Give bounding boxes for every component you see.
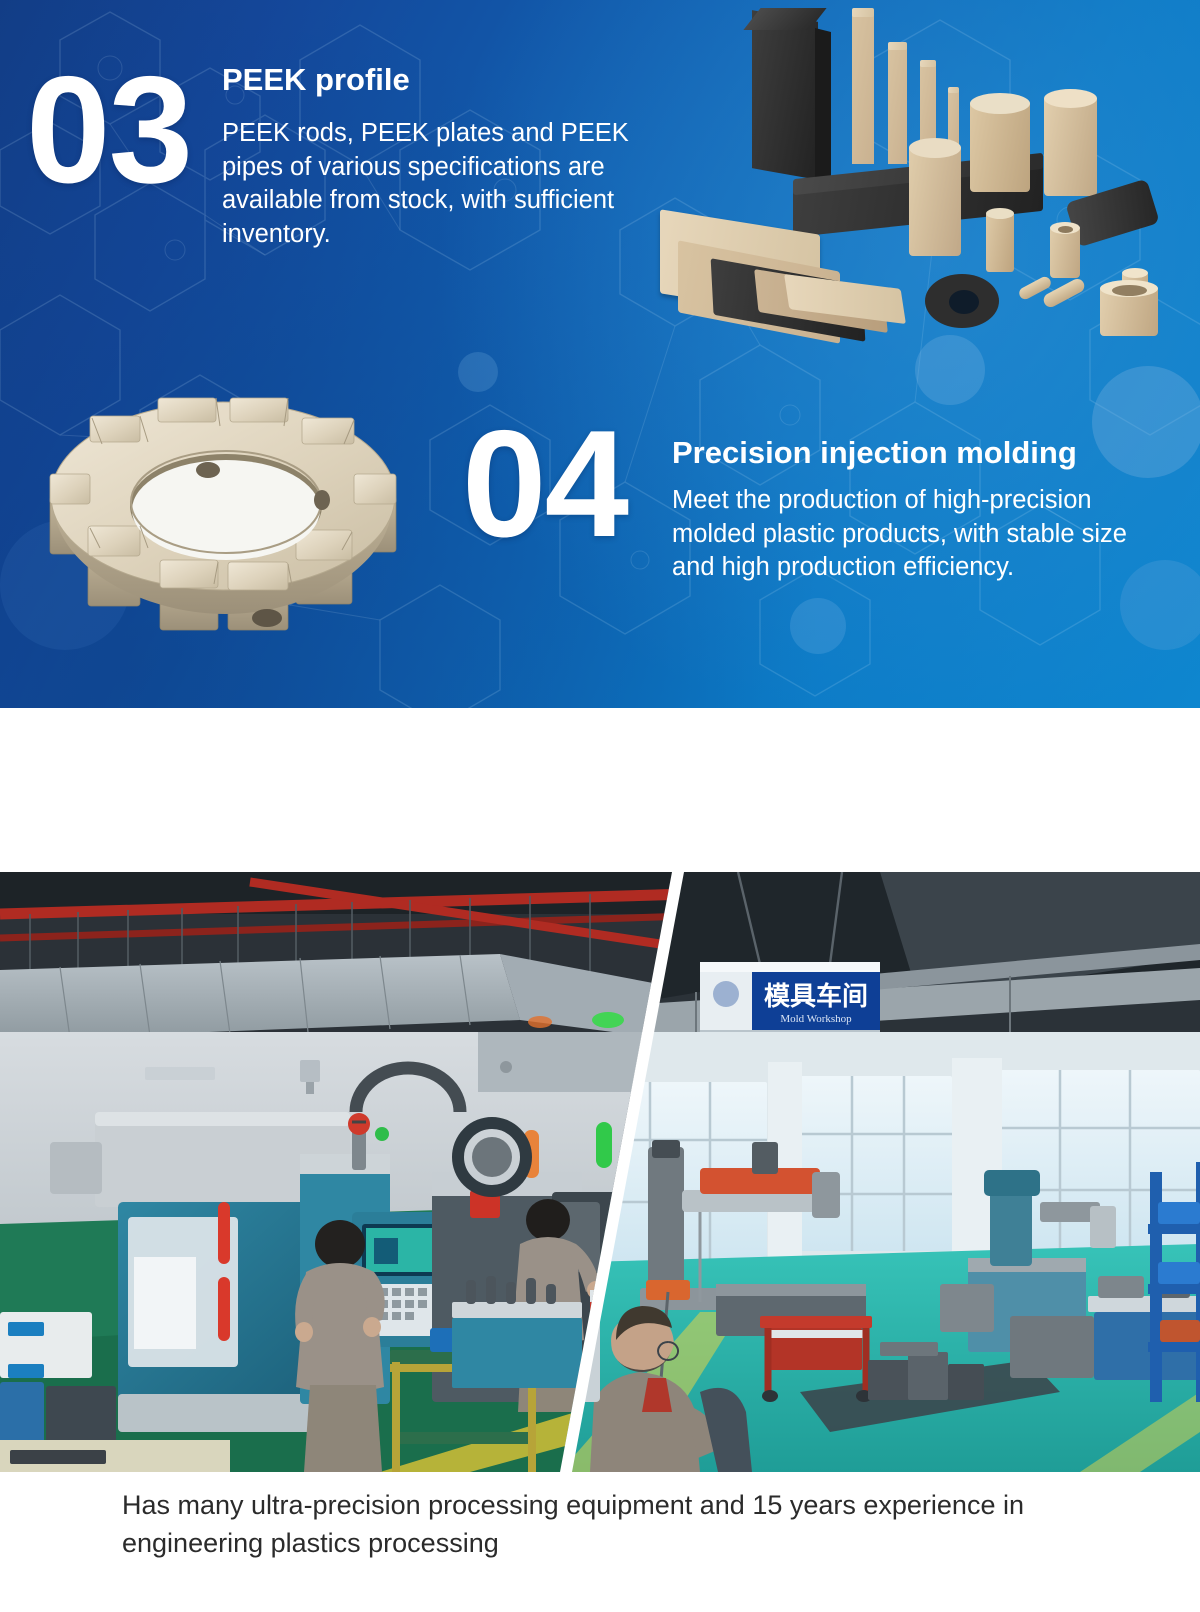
section-03-body: PEEK rods, PEEK plates and PEEK pipes of… (222, 117, 652, 253)
section-number-03: 03 (26, 56, 191, 205)
section-number-04: 04 (462, 410, 627, 559)
section-04-body: Meet the production of high-precision mo… (672, 484, 1172, 586)
peek-gear-ring-photo (30, 378, 420, 663)
svg-text:Mold Workshop: Mold Workshop (780, 1013, 852, 1025)
our-strengths-banner: Our strengths (0, 708, 1200, 868)
workshop-photos: 模具车间 Mold Workshop (0, 872, 1200, 1472)
section-number-value: 04 (462, 410, 627, 559)
svg-text:模具车间: 模具车间 (764, 981, 868, 1012)
bokeh-circle (790, 598, 846, 654)
marketing-page: 03 PEEK profile PEEK rods, PEEK plates a… (0, 0, 1200, 1612)
section-03-text: PEEK profile PEEK rods, PEEK plates and … (222, 62, 652, 252)
peek-profile-products-photo (660, 0, 1200, 344)
caption-text: Has many ultra-precision processing equi… (122, 1486, 1082, 1563)
bokeh-circle (915, 335, 985, 405)
section-03-title: PEEK profile (222, 62, 652, 98)
bokeh-circle (458, 352, 498, 392)
section-number-value: 03 (26, 56, 191, 205)
section-04-text: Precision injection molding Meet the pro… (672, 435, 1172, 585)
bottom-caption: Has many ultra-precision processing equi… (0, 1472, 1200, 1612)
features-blue-panel: 03 PEEK profile PEEK rods, PEEK plates a… (0, 0, 1200, 708)
section-04-title: Precision injection molding (672, 435, 1172, 471)
